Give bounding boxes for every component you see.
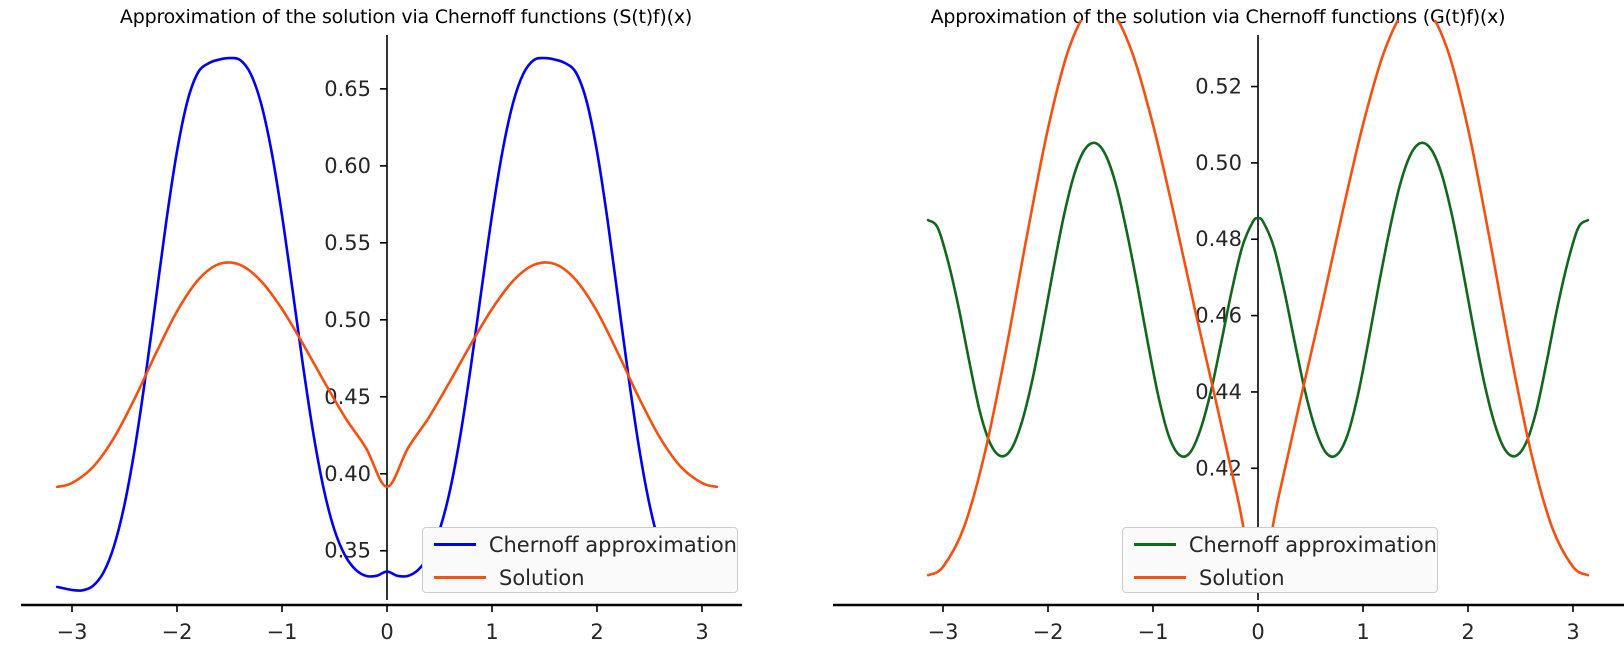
- x-tick-label: −2: [162, 620, 193, 644]
- legend-right[interactable]: Chernoff approximation Solution: [1122, 527, 1438, 593]
- legend-label-chernoff-right: Chernoff approximation: [1189, 533, 1437, 557]
- x-tick-label: 2: [1461, 620, 1474, 644]
- x-tick-label: 3: [695, 620, 708, 644]
- x-tick-label: 2: [590, 620, 603, 644]
- x-tick-label: −3: [928, 620, 959, 644]
- figure-canvas: Approximation of the solution via Cherno…: [0, 0, 1624, 652]
- x-tick-label: 3: [1566, 620, 1579, 644]
- y-tick-label: 0.46: [1195, 304, 1242, 328]
- legend-label-solution-right: Solution: [1199, 566, 1285, 590]
- legend-label-chernoff-left: Chernoff approximation: [489, 533, 737, 557]
- y-tick-label: 0.44: [1195, 380, 1242, 404]
- x-tick-label: −1: [267, 620, 298, 644]
- y-tick-label: 0.55: [324, 231, 371, 255]
- y-tick-label: 0.48: [1195, 227, 1242, 251]
- chart-panel-left: Approximation of the solution via Cherno…: [0, 0, 812, 652]
- chart-panel-right: Approximation of the solution via Cherno…: [812, 0, 1624, 652]
- legend-item-chernoff-left[interactable]: Chernoff approximation: [423, 528, 737, 561]
- y-tick-label: 0.50: [1195, 151, 1242, 175]
- x-tick-label: 1: [1356, 620, 1369, 644]
- x-tick-label: 0: [1251, 620, 1264, 644]
- legend-item-chernoff-right[interactable]: Chernoff approximation: [1123, 528, 1437, 561]
- y-tick-label: 0.52: [1195, 75, 1242, 99]
- y-tick-label: 0.50: [324, 308, 371, 332]
- legend-swatch-chernoff-right: [1134, 543, 1176, 546]
- x-tick-label: −1: [1138, 620, 1169, 644]
- x-tick-label: 1: [485, 620, 498, 644]
- x-tick-label: 0: [380, 620, 393, 644]
- y-tick-label: 0.60: [324, 154, 371, 178]
- y-tick-label: 0.65: [324, 77, 371, 101]
- y-tick-label: 0.45: [324, 385, 371, 409]
- legend-label-solution-left: Solution: [499, 566, 585, 590]
- legend-item-solution-right[interactable]: Solution: [1123, 561, 1437, 594]
- legend-swatch-solution-right: [1134, 576, 1186, 579]
- y-tick-label: 0.40: [324, 462, 371, 486]
- legend-swatch-solution-left: [434, 576, 486, 579]
- x-tick-label: −2: [1033, 620, 1064, 644]
- legend-swatch-chernoff-left: [434, 543, 476, 546]
- x-tick-label: −3: [57, 620, 88, 644]
- legend-item-solution-left[interactable]: Solution: [423, 561, 737, 594]
- legend-left[interactable]: Chernoff approximation Solution: [422, 527, 738, 593]
- y-tick-label: 0.42: [1195, 456, 1242, 480]
